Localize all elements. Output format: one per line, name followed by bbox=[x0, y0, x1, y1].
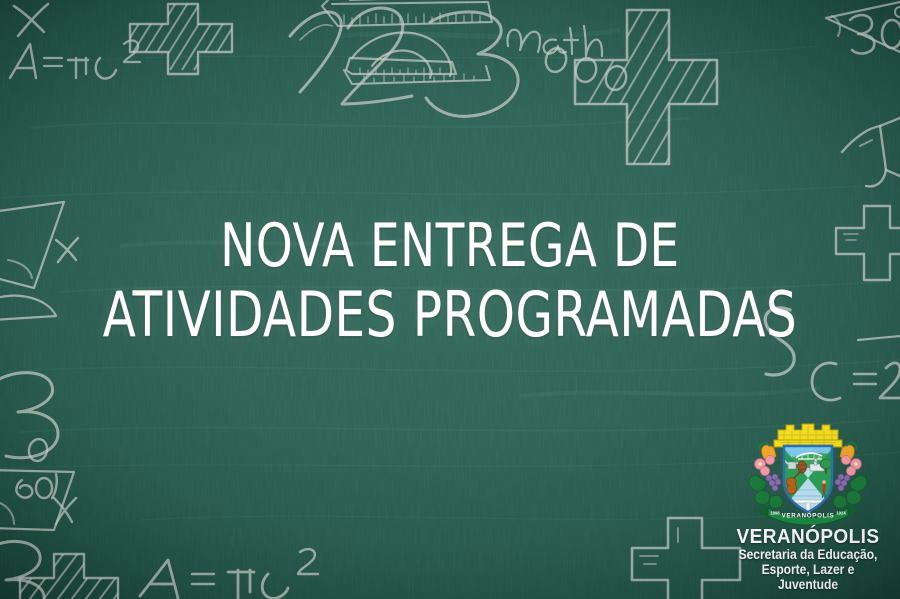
crest-mural-crown bbox=[774, 424, 842, 447]
logo-department-line-2: Esporte, Lazer e Juventude bbox=[731, 562, 886, 592]
crest-wreath-left bbox=[749, 443, 782, 508]
logo-department: Secretaria da Educação, Esporte, Lazer e… bbox=[731, 547, 886, 592]
chalkboard-poster: .ch { fill:none; stroke:#c9cdc8; stroke-… bbox=[0, 0, 900, 599]
crest-wreath-right bbox=[834, 443, 867, 508]
logo-city-name: VERANÓPOLIS bbox=[726, 527, 889, 547]
crest-banner-label: VERANÓPOLIS bbox=[782, 511, 835, 519]
logo-lockup: VERANÓPOLIS 1898 1924 VERANÓPOLIS Secret… bbox=[722, 418, 894, 592]
crest-shield bbox=[782, 446, 836, 512]
coat-of-arms-veranopolis: VERANÓPOLIS 1898 1924 bbox=[744, 418, 872, 526]
logo-department-line-1: Secretaria da Educação, bbox=[731, 547, 886, 562]
crest-banner-right-year: 1924 bbox=[836, 511, 846, 516]
crest-banner-left-year: 1898 bbox=[770, 511, 780, 516]
